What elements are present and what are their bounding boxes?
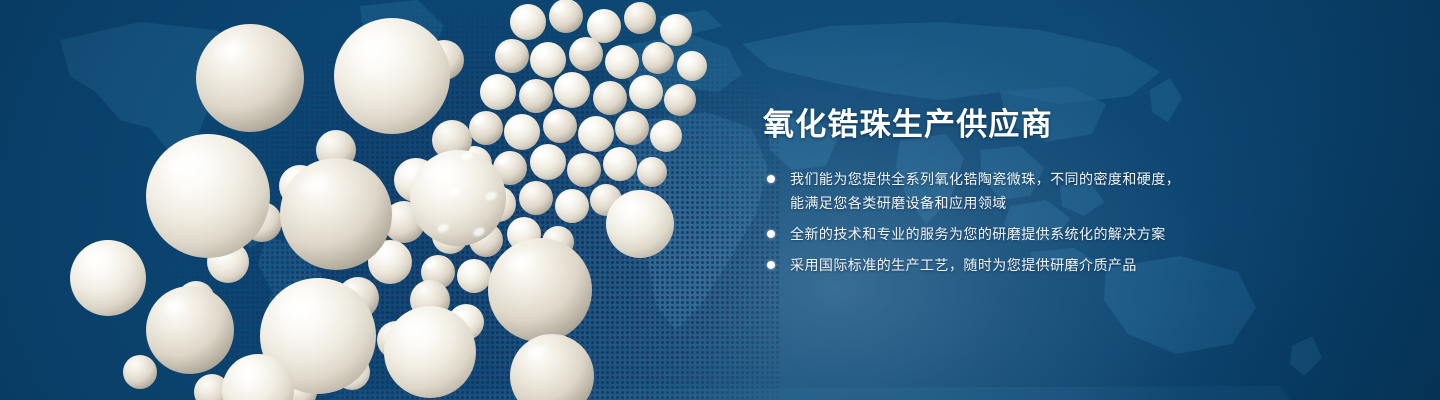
hero-banner: 氧化锆珠生产供应商 我们能为您提供全系列氧化锆陶瓷微珠，不同的密度和硬度， 能满… xyxy=(0,0,1440,400)
list-item-line-2: 能满足您各类研磨设备和应用领域 xyxy=(790,191,1323,215)
bullet-dot-icon xyxy=(767,175,775,183)
bullet-dot-icon xyxy=(767,261,775,269)
list-item: 我们能为您提供全系列氧化锆陶瓷微珠，不同的密度和硬度， 能满足您各类研磨设备和应… xyxy=(763,167,1323,215)
bullet-dot-icon xyxy=(767,230,775,238)
list-item: 采用国际标准的生产工艺，随时为您提供研磨介质产品 xyxy=(763,253,1323,277)
list-item: 全新的技术和专业的服务为您的研磨提供系统化的解决方案 xyxy=(763,222,1323,246)
page-title: 氧化锆珠生产供应商 xyxy=(763,108,1323,141)
list-item-line-1: 采用国际标准的生产工艺，随时为您提供研磨介质产品 xyxy=(790,253,1323,277)
banner-copy: 氧化锆珠生产供应商 我们能为您提供全系列氧化锆陶瓷微珠，不同的密度和硬度， 能满… xyxy=(763,108,1323,277)
list-item-line-1: 全新的技术和专业的服务为您的研磨提供系统化的解决方案 xyxy=(790,222,1323,246)
list-item-line-1: 我们能为您提供全系列氧化锆陶瓷微珠，不同的密度和硬度， xyxy=(790,167,1323,191)
feature-list: 我们能为您提供全系列氧化锆陶瓷微珠，不同的密度和硬度， 能满足您各类研磨设备和应… xyxy=(763,167,1323,277)
